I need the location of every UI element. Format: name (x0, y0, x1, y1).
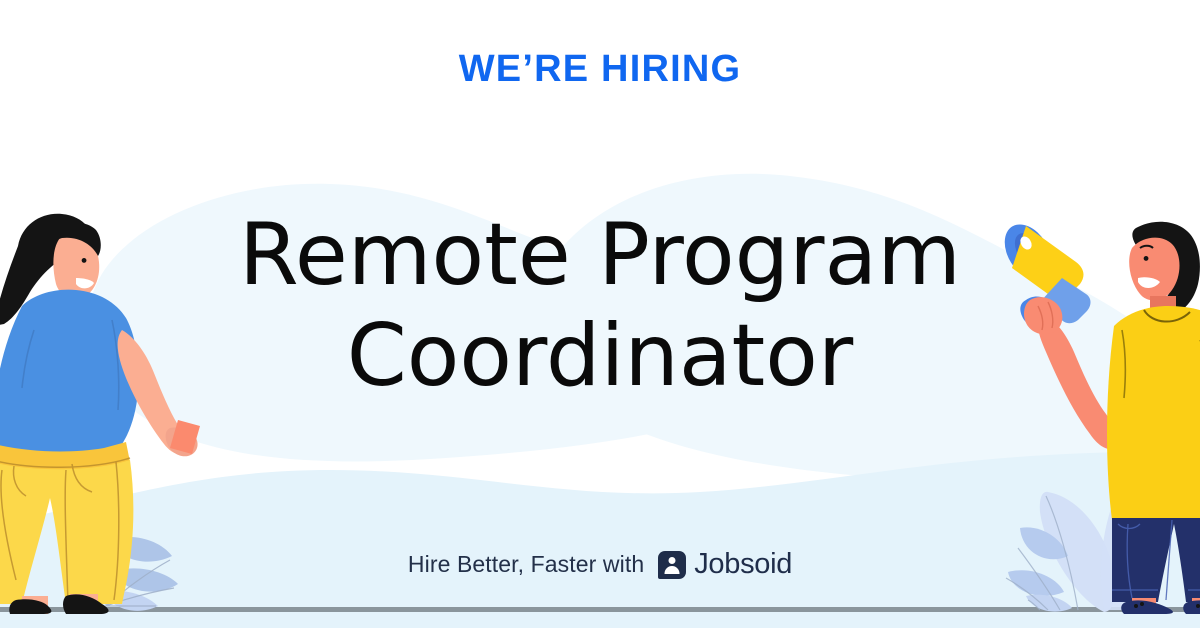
jobsoid-logo[interactable]: Jobsoid (658, 548, 792, 581)
brand-name: Jobsoid (694, 548, 792, 581)
person-badge-body (665, 566, 680, 574)
hiring-poster: WE’RE HIRING Remote Program Coordinator … (0, 0, 1200, 628)
person-badge-head (669, 557, 676, 564)
man-shoe-left (1121, 600, 1173, 614)
job-title: Remote Program Coordinator (70, 205, 1130, 408)
footer-inner: Hire Better, Faster with Jobsoid (408, 548, 792, 581)
hiring-kicker: WE’RE HIRING (0, 48, 1200, 91)
job-title-line-1: Remote Program (70, 205, 1130, 306)
man-eye (1144, 256, 1149, 261)
person-badge-icon (658, 551, 686, 579)
job-title-line-2: Coordinator (70, 306, 1130, 407)
footer-tagline: Hire Better, Faster with (408, 551, 644, 578)
